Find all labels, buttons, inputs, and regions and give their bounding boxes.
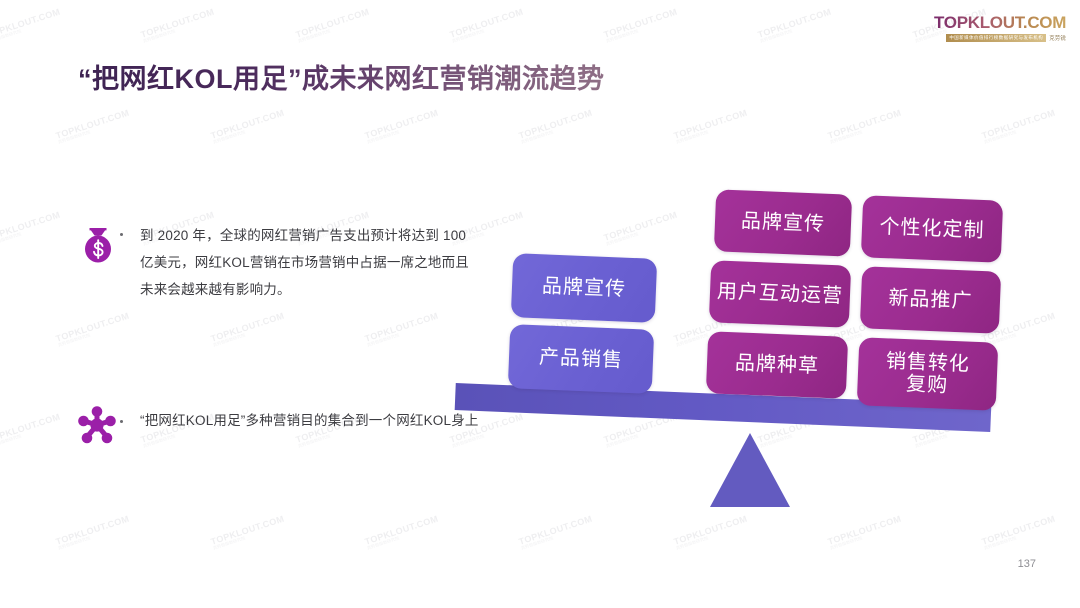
watermark: TOPKLOUT.COM克劳锐指数研究院 — [364, 108, 442, 146]
bullet-text-1: 到 2020 年，全球的网红营销广告支出预计将达到 100 亿美元，网红KOL营… — [140, 222, 476, 303]
watermark: TOPKLOUT.COM克劳锐指数研究院 — [757, 7, 835, 45]
watermark: TOPKLOUT.COM克劳锐指数研究院 — [826, 108, 904, 146]
diagram-box-right-1[interactable]: 品牌宣传 — [714, 189, 852, 256]
watermark: TOPKLOUT.COM克劳锐指数研究院 — [981, 108, 1059, 146]
bullet-marker-1 — [120, 233, 123, 236]
topklout-logo: TOPKLOUT.COM 中国新媒体价值排行榜数据研究与发布机构 克劳锐 — [934, 14, 1066, 42]
slide-canvas: TOPKLOUT.COM克劳锐指数研究院TOPKLOUT.COM克劳锐指数研究院… — [0, 0, 1080, 608]
diagram-box-left-1[interactable]: 品牌宣传 — [511, 253, 657, 323]
diagram-box-right-6[interactable]: 销售转化 复购 — [857, 337, 999, 411]
diagram-box-right-5[interactable]: 品牌种草 — [706, 331, 848, 399]
diagram-box-left-2[interactable]: 产品销售 — [508, 324, 654, 394]
watermark: TOPKLOUT.COM克劳锐指数研究院 — [364, 513, 442, 551]
watermark: TOPKLOUT.COM克劳锐指数研究院 — [518, 108, 596, 146]
watermark: TOPKLOUT.COM克劳锐指数研究院 — [364, 311, 442, 349]
seesaw-fulcrum — [710, 433, 790, 507]
logo-subtitle-row: 中国新媒体价值排行榜数据研究与发布机构 克劳锐 — [934, 34, 1066, 42]
watermark: TOPKLOUT.COM克劳锐指数研究院 — [672, 513, 750, 551]
watermark: TOPKLOUT.COM克劳锐指数研究院 — [55, 108, 133, 146]
watermark: TOPKLOUT.COM克劳锐指数研究院 — [209, 108, 287, 146]
logo-tag: 克劳锐 — [1049, 34, 1066, 42]
diagram-box-right-4[interactable]: 新品推广 — [860, 266, 1001, 334]
watermark: TOPKLOUT.COM克劳锐指数研究院 — [55, 513, 133, 551]
diagram-box-right-3[interactable]: 用户互动运营 — [709, 260, 851, 328]
watermark: TOPKLOUT.COM克劳锐指数研究院 — [603, 209, 681, 247]
watermark: TOPKLOUT.COM克劳锐指数研究院 — [672, 108, 750, 146]
watermark: TOPKLOUT.COM克劳锐指数研究院 — [294, 7, 372, 45]
page-number: 137 — [1018, 558, 1036, 570]
watermark: TOPKLOUT.COM克劳锐指数研究院 — [603, 7, 681, 45]
logo-subtitle-bar: 中国新媒体价值排行榜数据研究与发布机构 — [946, 34, 1046, 42]
bullet-item-2: “把网红KOL用足”多种营销目的集合到一个网红KOL身上 — [76, 404, 496, 452]
diagram-box-right-2[interactable]: 个性化定制 — [861, 195, 1003, 263]
money-bag-icon — [76, 222, 120, 270]
molecule-network-icon — [76, 404, 120, 452]
watermark: TOPKLOUT.COM克劳锐指数研究院 — [448, 7, 526, 45]
watermark: TOPKLOUT.COM克劳锐指数研究院 — [0, 209, 63, 247]
watermark: TOPKLOUT.COM克劳锐指数研究院 — [0, 412, 63, 450]
watermark: TOPKLOUT.COM克劳锐指数研究院 — [0, 7, 63, 45]
bullet-marker-2 — [120, 420, 123, 423]
bullet-item-1: 到 2020 年，全球的网红营销广告支出预计将达到 100 亿美元，网红KOL营… — [76, 222, 476, 303]
watermark: TOPKLOUT.COM克劳锐指数研究院 — [826, 513, 904, 551]
watermark: TOPKLOUT.COM克劳锐指数研究院 — [209, 513, 287, 551]
watermark: TOPKLOUT.COM克劳锐指数研究院 — [55, 311, 133, 349]
watermark: TOPKLOUT.COM克劳锐指数研究院 — [209, 311, 287, 349]
page-title: “把网红KOL用足”成未来网红营销潮流趋势 — [78, 57, 605, 96]
watermark: TOPKLOUT.COM克劳锐指数研究院 — [140, 7, 218, 45]
watermark: TOPKLOUT.COM克劳锐指数研究院 — [981, 513, 1059, 551]
bullet-text-2: “把网红KOL用足”多种营销目的集合到一个网红KOL身上 — [140, 412, 479, 431]
logo-wordmark: TOPKLOUT.COM — [934, 14, 1066, 31]
watermark: TOPKLOUT.COM克劳锐指数研究院 — [518, 513, 596, 551]
